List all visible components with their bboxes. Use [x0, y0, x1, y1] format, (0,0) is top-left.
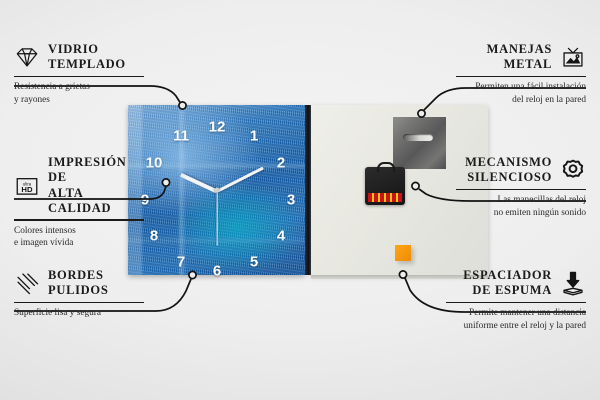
clock-numeral: 4 — [277, 229, 285, 244]
clock-second-hand — [216, 191, 217, 246]
hanger-slot — [403, 134, 433, 141]
callout-divider — [14, 76, 144, 78]
clock-hour-hand — [180, 173, 218, 193]
callout-divider — [14, 219, 144, 221]
callout-title-line1: IMPRESIÓN DE — [48, 155, 144, 186]
ultra-hd-icon-bottom: HD — [21, 185, 33, 194]
callout-espaciador-espuma: ESPACIADOR DE ESPUMA Permite mantener un… — [446, 268, 586, 332]
clock-numeral: 11 — [173, 129, 189, 144]
callout-body-line2: y rayones — [14, 94, 144, 107]
callout-divider — [446, 302, 586, 304]
foam-spacer — [395, 245, 411, 261]
gear-icon — [560, 157, 586, 183]
callout-title-line2: SILENCIOSO — [465, 170, 552, 185]
callout-title-line2: METAL — [487, 57, 552, 72]
clock-numeral: 3 — [287, 193, 295, 208]
callout-mecanismo-silencioso: MECANISMO SILENCIOSO Las manecillas del … — [456, 155, 586, 219]
callout-divider — [14, 302, 144, 304]
callout-body-line2: del reloj en la pared — [456, 94, 586, 107]
clock-minute-hand — [216, 167, 264, 194]
callout-body-line2: e imagen vívida — [14, 237, 144, 250]
clock-center-hub — [215, 188, 220, 193]
ultra-hd-icon: ultra HD — [14, 173, 40, 199]
metal-hanger — [393, 117, 446, 169]
callout-body-line1: Permite mantener una distancia — [446, 307, 586, 320]
callout-title-line1: VIDRIO — [48, 42, 126, 57]
callout-body-line1: Las manecillas del reloj — [456, 194, 586, 207]
clock-numeral: 2 — [277, 156, 285, 171]
callout-bordes-pulidos: BORDES PULIDOS Superficie lisa y segura — [14, 268, 144, 320]
infographic-canvas: 12 1 2 3 4 5 6 7 8 9 10 11 — [0, 0, 600, 400]
clock-numeral: 6 — [213, 264, 221, 279]
callout-body-line1: Superficie lisa y segura — [14, 307, 144, 320]
mechanism-hanger-loop — [377, 162, 395, 172]
callout-body-line2: no emiten ningún sonido — [456, 207, 586, 220]
callout-title-line2: TEMPLADO — [48, 57, 126, 72]
diamond-icon — [14, 44, 40, 70]
arrow-down-pad-icon — [560, 270, 586, 296]
clock-numeral: 7 — [177, 255, 185, 270]
callout-impresion-alta-calidad: ultra HD IMPRESIÓN DE ALTA CALIDAD Color… — [14, 155, 144, 250]
callout-body-line1: Permiten una fácil instalación — [456, 81, 586, 94]
clock-face-panel: 12 1 2 3 4 5 6 7 8 9 10 11 — [128, 105, 305, 275]
clock-numeral: 10 — [146, 156, 163, 171]
callout-title-line1: BORDES — [48, 268, 108, 283]
clock-numeral: 5 — [250, 255, 258, 270]
callout-title-line1: MANEJAS — [487, 42, 552, 57]
callout-title-line1: MECANISMO — [465, 155, 552, 170]
clock-numeral: 12 — [209, 120, 226, 135]
mechanism-label — [368, 193, 402, 202]
callout-title-line1: ESPACIADOR — [463, 268, 552, 283]
clock-numeral: 8 — [150, 229, 158, 244]
callout-body-line2: uniforme entre el reloj y la pared — [446, 320, 586, 333]
clock-mechanism — [365, 167, 405, 205]
callout-divider — [456, 76, 586, 78]
product-photo-group: 12 1 2 3 4 5 6 7 8 9 10 11 — [128, 105, 488, 275]
callout-vidrio-templado: VIDRIO TEMPLADO Resistencia a grietas y … — [14, 42, 144, 106]
callout-title-line2: PULIDOS — [48, 283, 108, 298]
callout-body-line1: Resistencia a grietas — [14, 81, 144, 94]
callout-title-line2: ALTA CALIDAD — [48, 186, 144, 217]
clock-numeral: 1 — [250, 129, 258, 144]
diagonal-lines-icon — [14, 270, 40, 296]
callout-title-line2: DE ESPUMA — [463, 283, 552, 298]
picture-frame-icon — [560, 44, 586, 70]
callout-manejas-metal: MANEJAS METAL Permiten una fácil instala… — [456, 42, 586, 106]
callout-body-line1: Colores intensos — [14, 225, 144, 238]
callout-divider — [456, 189, 586, 191]
